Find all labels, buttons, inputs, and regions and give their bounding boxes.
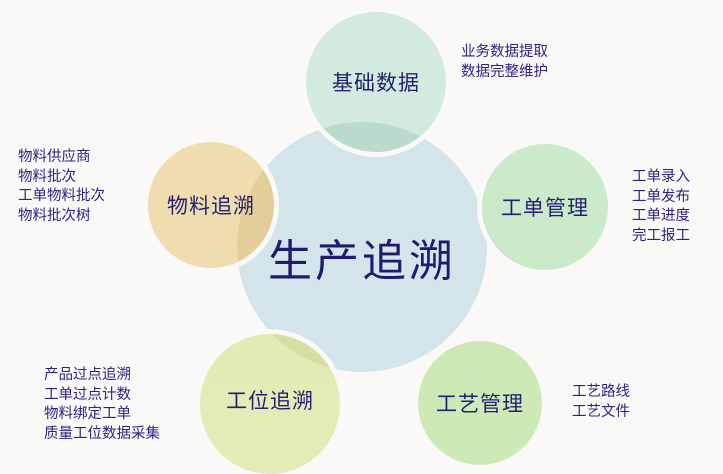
node-label-station-traceability: 工位追溯 bbox=[226, 385, 314, 415]
detail-item: 完工报工 bbox=[632, 227, 690, 247]
detail-item: 数据完整维护 bbox=[461, 63, 548, 83]
detail-item: 工单进度 bbox=[632, 207, 690, 227]
detail-item: 物料供应商 bbox=[18, 148, 105, 168]
details-work-order-management: 工单录入 工单发布 工单进度 完工报工 bbox=[632, 168, 690, 246]
details-material-traceability: 物料供应商 物料批次 工单物料批次 物料批次树 bbox=[18, 148, 105, 226]
detail-item: 物料绑定工单 bbox=[44, 405, 160, 425]
detail-item: 物料批次树 bbox=[18, 207, 105, 227]
detail-item: 质量工位数据采集 bbox=[44, 425, 160, 445]
detail-item: 工艺文件 bbox=[572, 403, 630, 423]
detail-item: 工单发布 bbox=[632, 188, 690, 208]
detail-item: 工单物料批次 bbox=[18, 187, 105, 207]
center-label: 生产追溯 bbox=[268, 225, 456, 289]
detail-item: 工单过点计数 bbox=[44, 386, 160, 406]
detail-item: 物料批次 bbox=[18, 168, 105, 188]
detail-item: 工单录入 bbox=[632, 168, 690, 188]
detail-item: 工艺路线 bbox=[572, 383, 630, 403]
production-traceability-diagram: 生产追溯 基础数据 工单管理 工艺管理 工位追溯 物料追溯 业务数据提取 数据完… bbox=[0, 0, 723, 474]
node-label-work-order-management: 工单管理 bbox=[501, 192, 589, 222]
details-station-traceability: 产品过点追溯 工单过点计数 物料绑定工单 质量工位数据采集 bbox=[44, 366, 160, 444]
details-basic-data: 业务数据提取 数据完整维护 bbox=[461, 43, 548, 82]
details-process-management: 工艺路线 工艺文件 bbox=[572, 383, 630, 422]
node-label-material-traceability: 物料追溯 bbox=[167, 190, 255, 220]
node-label-process-management: 工艺管理 bbox=[436, 388, 524, 418]
detail-item: 产品过点追溯 bbox=[44, 366, 160, 386]
detail-item: 业务数据提取 bbox=[461, 43, 548, 63]
node-label-basic-data: 基础数据 bbox=[332, 67, 420, 97]
